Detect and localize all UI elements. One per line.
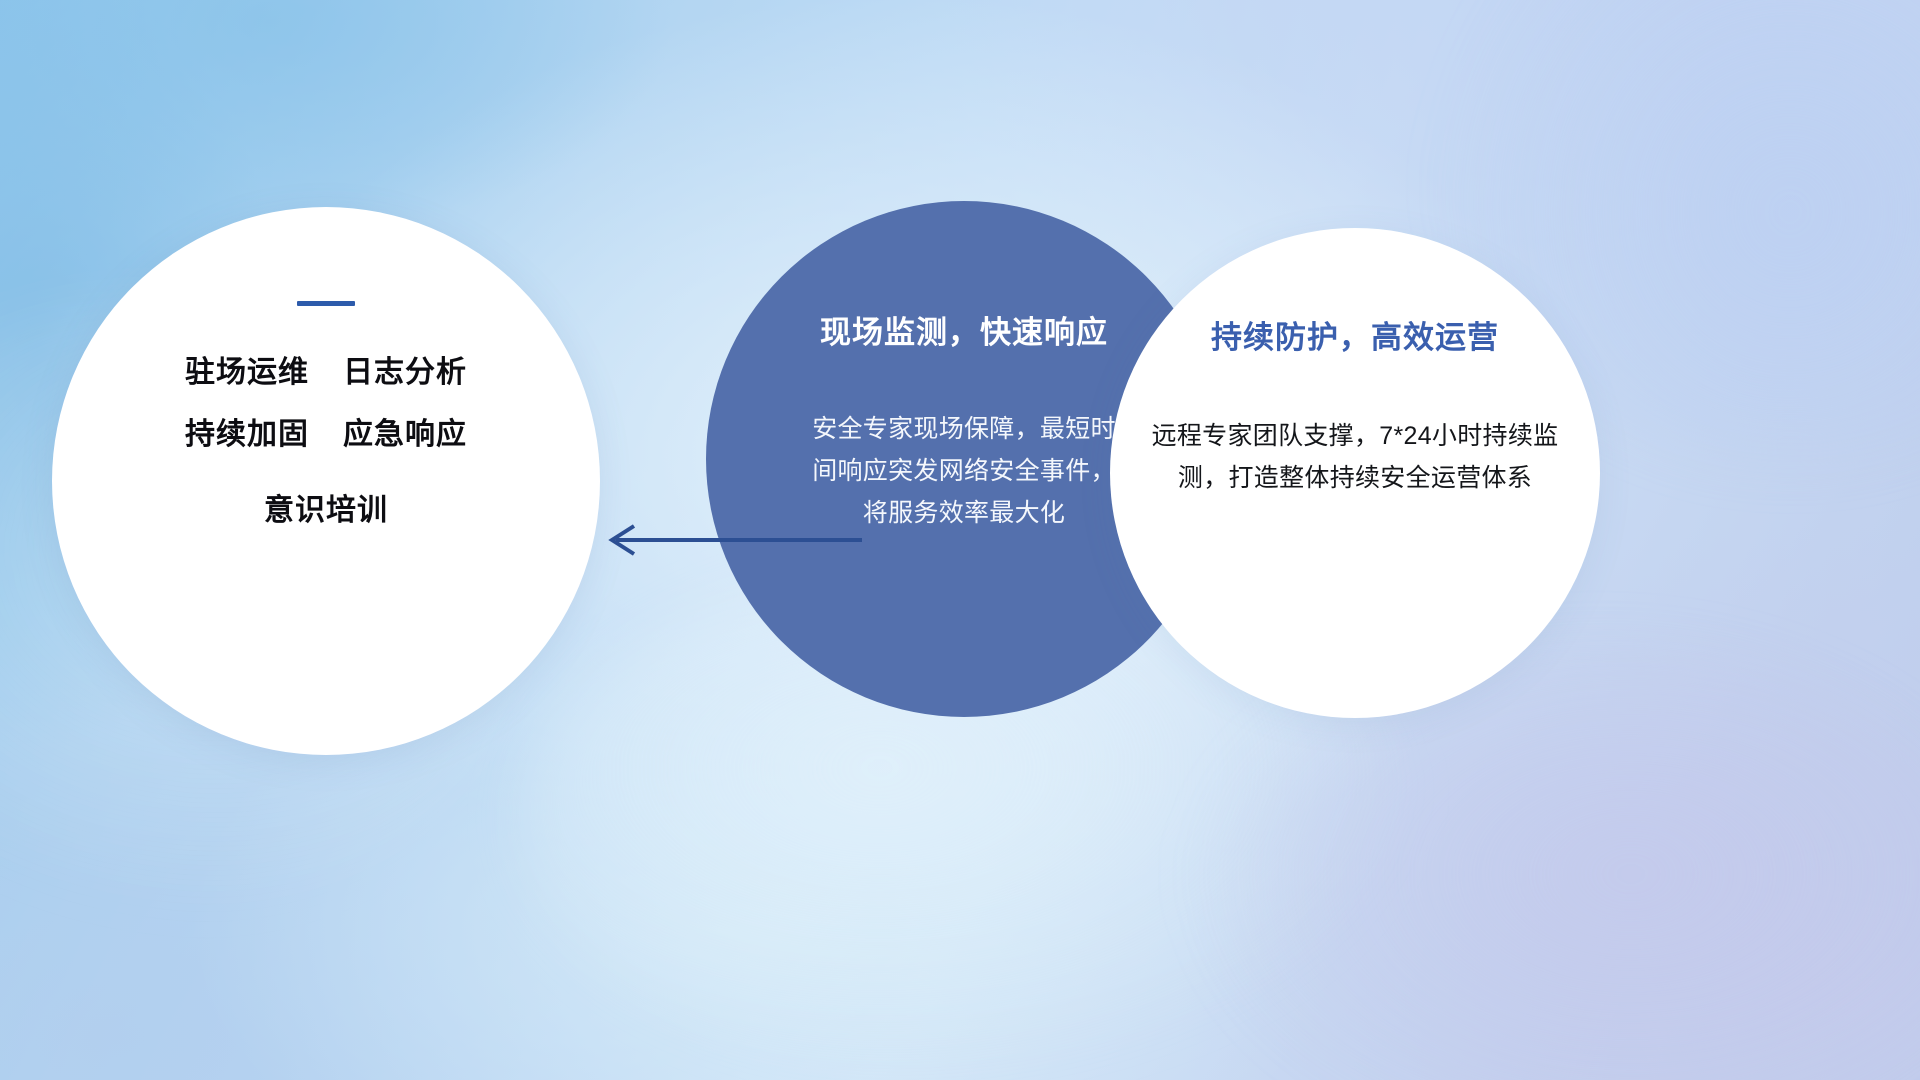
continuous-panel: 持续防护，高效运营 远程专家团队支撑，7*24小时持续监测，打造整体持续安全运营…	[1110, 228, 1600, 718]
slide-canvas: 驻场运维 日志分析 持续加固 应急响应 意识培训 现场监测，快速响应 安全专家现…	[0, 0, 1920, 1080]
accent-dash-icon	[297, 301, 355, 306]
continuous-title: 持续防护，高效运营	[1211, 312, 1499, 357]
capability-row: 持续加固 应急响应	[185, 404, 467, 466]
onsite-title: 现场监测，快速响应	[820, 307, 1108, 352]
capability-keyword: 驻场运维	[185, 342, 309, 404]
capability-row: 意识培训	[264, 480, 388, 542]
capability-keyword: 应急响应	[343, 404, 467, 466]
capability-keyword: 持续加固	[185, 404, 309, 466]
capability-keyword: 意识培训	[264, 480, 388, 542]
capability-keyword: 日志分析	[343, 342, 467, 404]
continuous-description: 远程专家团队支撑，7*24小时持续监测，打造整体持续安全运营体系	[1145, 415, 1565, 499]
capabilities-panel: 驻场运维 日志分析 持续加固 应急响应 意识培训	[52, 207, 600, 755]
capability-keyword-list: 驻场运维 日志分析 持续加固 应急响应 意识培训	[185, 342, 467, 542]
onsite-description: 安全专家现场保障，最短时间响应突发网络安全事件，将服务效率最大化	[804, 408, 1124, 534]
capability-row: 驻场运维 日志分析	[185, 342, 467, 404]
